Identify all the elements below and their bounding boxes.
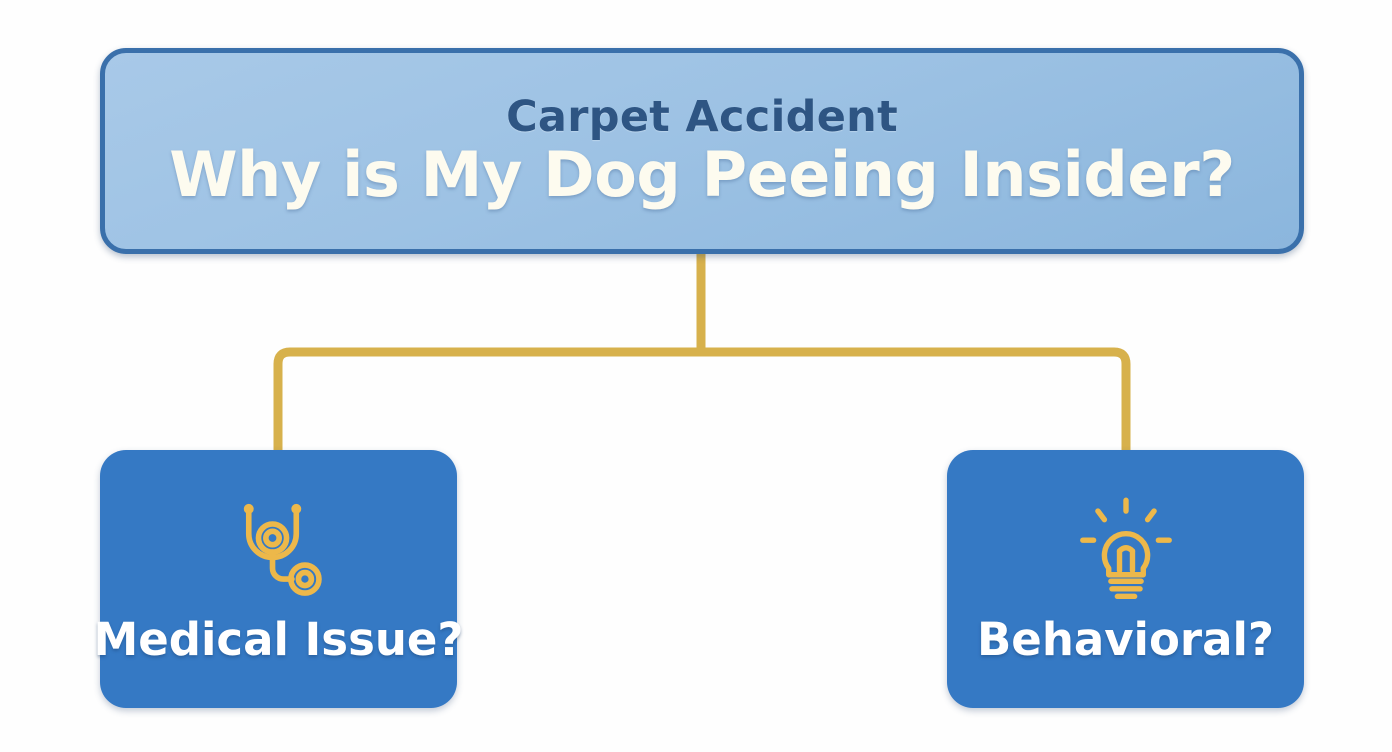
stethoscope-icon	[225, 497, 333, 605]
child-node-medical-label: Medical Issue?	[93, 617, 463, 662]
root-eyebrow-text: Carpet Accident	[506, 95, 898, 140]
root-node[interactable]: Carpet Accident Why is My Dog Peeing Ins…	[100, 48, 1304, 254]
connector-branch-right	[701, 352, 1126, 452]
diagram-canvas: Carpet Accident Why is My Dog Peeing Ins…	[0, 0, 1392, 752]
root-title-text: Why is My Dog Peeing Insider?	[169, 142, 1235, 207]
child-node-behavioral-label: Behavioral?	[977, 617, 1274, 662]
connector-branch-left	[278, 352, 701, 452]
lightbulb-icon	[1072, 497, 1180, 605]
child-node-medical[interactable]: Medical Issue?	[100, 450, 457, 708]
child-node-behavioral[interactable]: Behavioral?	[947, 450, 1304, 708]
